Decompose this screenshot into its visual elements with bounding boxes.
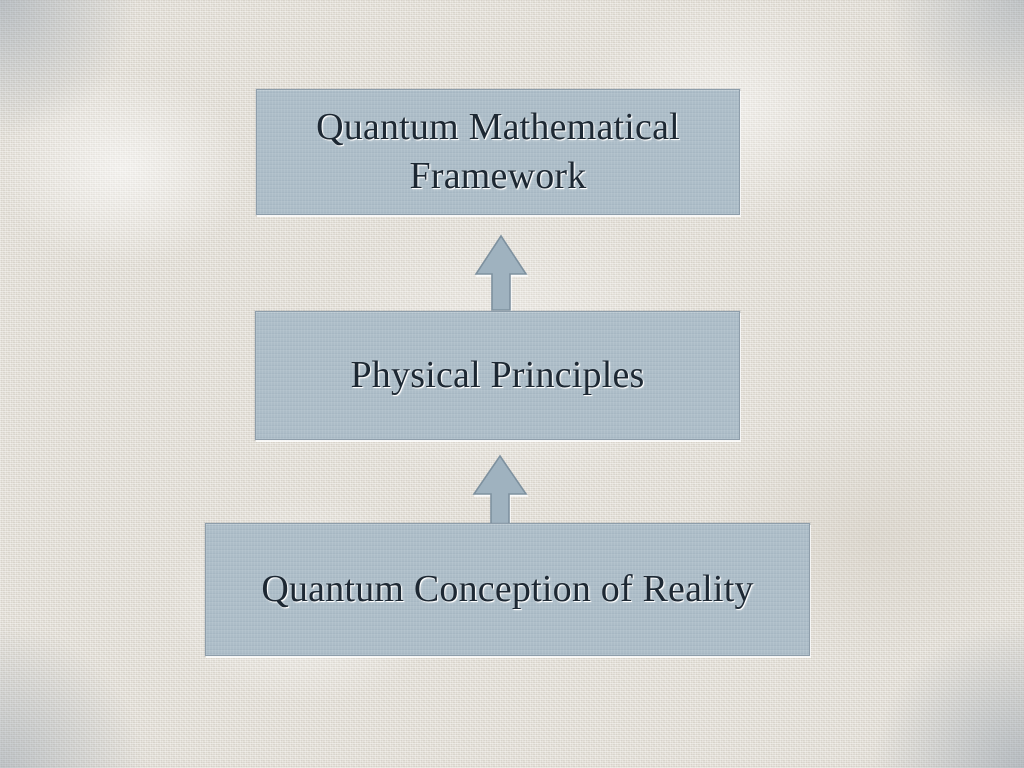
diagram-node-framework-label-line2: Framework — [410, 155, 587, 197]
diagram-node-principles-label: Physical Principles — [336, 351, 658, 400]
diagram-node-framework[interactable]: Quantum Mathematical Framework — [256, 89, 740, 215]
diagram-node-framework-label-line1: Quantum Mathematical — [316, 106, 680, 148]
diagram-node-framework-label: Quantum Mathematical Framework — [302, 103, 694, 200]
arrow-up-icon-principles-to-framework — [473, 234, 529, 312]
presentation-slide: Quantum Mathematical Framework Physical … — [0, 0, 1024, 768]
diagram-node-principles[interactable]: Physical Principles — [255, 311, 740, 440]
diagram-node-reality[interactable]: Quantum Conception of Reality — [205, 523, 810, 656]
arrow-up-icon-reality-to-principles — [471, 454, 529, 526]
diagram-node-reality-label: Quantum Conception of Reality — [247, 565, 767, 614]
